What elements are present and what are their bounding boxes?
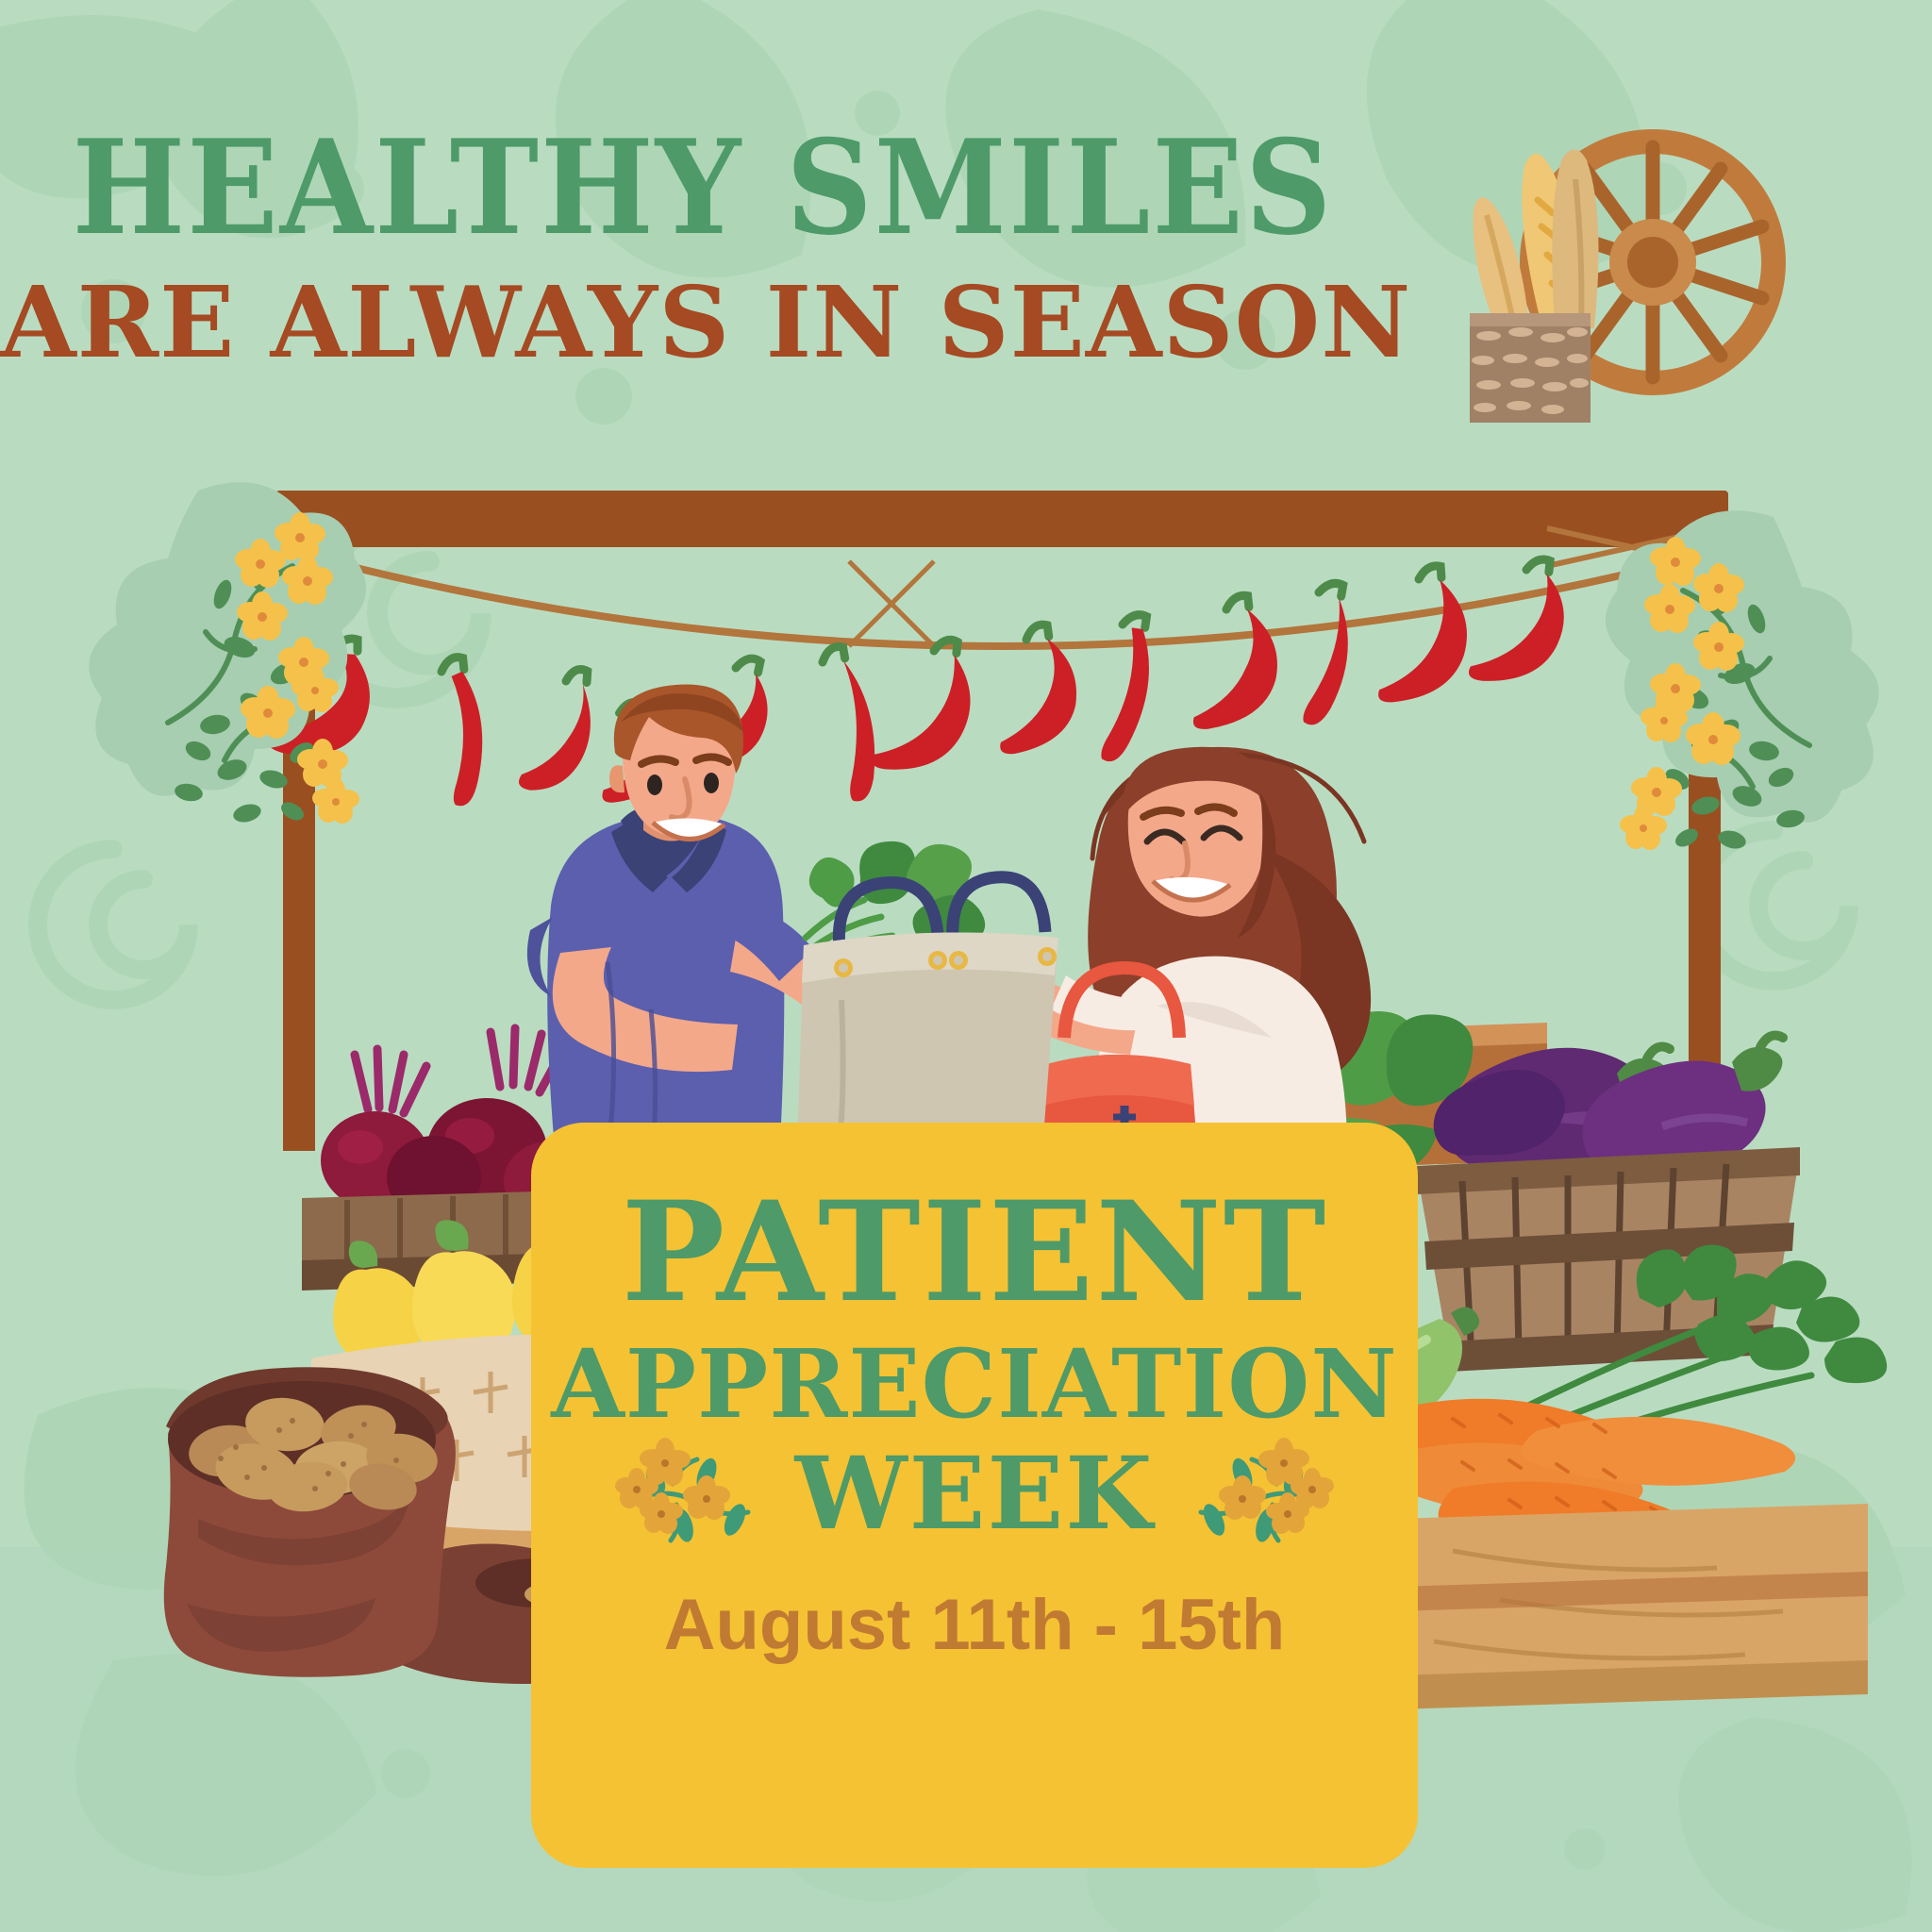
flower-vine-right	[1585, 509, 1849, 906]
bread-basket-icon	[1470, 149, 1599, 423]
flower-vine-left	[142, 481, 387, 887]
carrot-tops	[1637, 1245, 1887, 1383]
poster-canvas: HEALTHY SMILES ARE ALWAYS IN SEASON	[0, 0, 1932, 1932]
card-title-line2: APPRECIATION	[531, 1337, 1418, 1431]
card-title-line1: PATIENT	[531, 1185, 1418, 1320]
week-row: WEEK	[531, 1437, 1418, 1550]
card-title-line3: WEEK	[795, 1443, 1155, 1543]
announcement-card: PATIENT APPRECIATION	[531, 1123, 1418, 1868]
wagon-wheel-icon	[1434, 123, 1811, 406]
floral-ornament-right	[1163, 1437, 1342, 1550]
event-date: August 11th - 15th	[531, 1584, 1418, 1666]
carrot-crate	[1396, 1236, 1924, 1821]
floral-ornament-left	[607, 1437, 786, 1550]
